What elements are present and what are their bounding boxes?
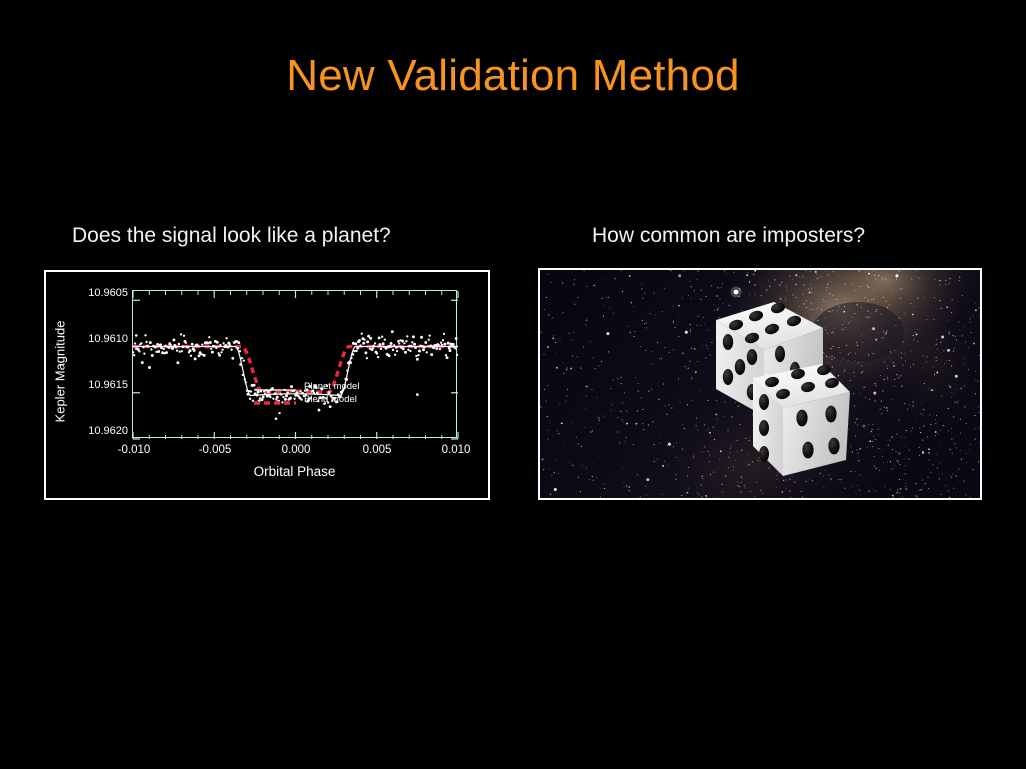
x-tick-label: 0.005 bbox=[363, 444, 392, 456]
blend-model-swatch bbox=[252, 395, 298, 405]
caption-left-column: Does the signal look like a planet? bbox=[72, 224, 391, 248]
x-tick-label: 0.000 bbox=[282, 444, 311, 456]
transit-light-curve-panel: Kepler Magnitude 10.9605 10.9610 10.9615… bbox=[44, 270, 490, 500]
x-tick-label: -0.010 bbox=[118, 444, 151, 456]
chart-legend: Planet model Blend model bbox=[252, 380, 382, 406]
x-tick-label: -0.005 bbox=[199, 444, 232, 456]
chart-area: Kepler Magnitude 10.9605 10.9610 10.9615… bbox=[46, 272, 488, 498]
caption-right-column: How common are imposters? bbox=[592, 224, 865, 248]
y-tick-label: 10.9605 bbox=[88, 287, 128, 299]
x-axis-title: Orbital Phase bbox=[132, 464, 457, 479]
legend-label: Blend model bbox=[304, 394, 357, 405]
y-tick-label: 10.9610 bbox=[88, 333, 128, 345]
light-curve-plot bbox=[131, 289, 460, 441]
planet-model-swatch bbox=[252, 382, 298, 392]
y-tick-label: 10.9620 bbox=[88, 425, 128, 437]
axis-major-ticks bbox=[133, 291, 458, 439]
page-title: New Validation Method bbox=[0, 52, 1026, 100]
die-two-left-pips bbox=[759, 394, 769, 462]
milky-way-photo bbox=[540, 270, 980, 498]
legend-entry-planet-model: Planet model bbox=[252, 380, 382, 393]
dice-milky-way-panel bbox=[538, 268, 982, 500]
die-two bbox=[753, 364, 850, 476]
axis-minor-ticks bbox=[149, 291, 442, 439]
y-axis-tick-labels: 10.9605 10.9610 10.9615 10.9620 bbox=[60, 272, 128, 498]
legend-label: Planet model bbox=[304, 381, 359, 392]
x-tick-label: 0.010 bbox=[442, 444, 471, 456]
y-tick-label: 10.9615 bbox=[88, 379, 128, 391]
starfield-and-dice-graphic bbox=[540, 270, 980, 498]
legend-entry-blend-model: Blend model bbox=[252, 393, 382, 406]
plot-frame bbox=[132, 290, 457, 438]
